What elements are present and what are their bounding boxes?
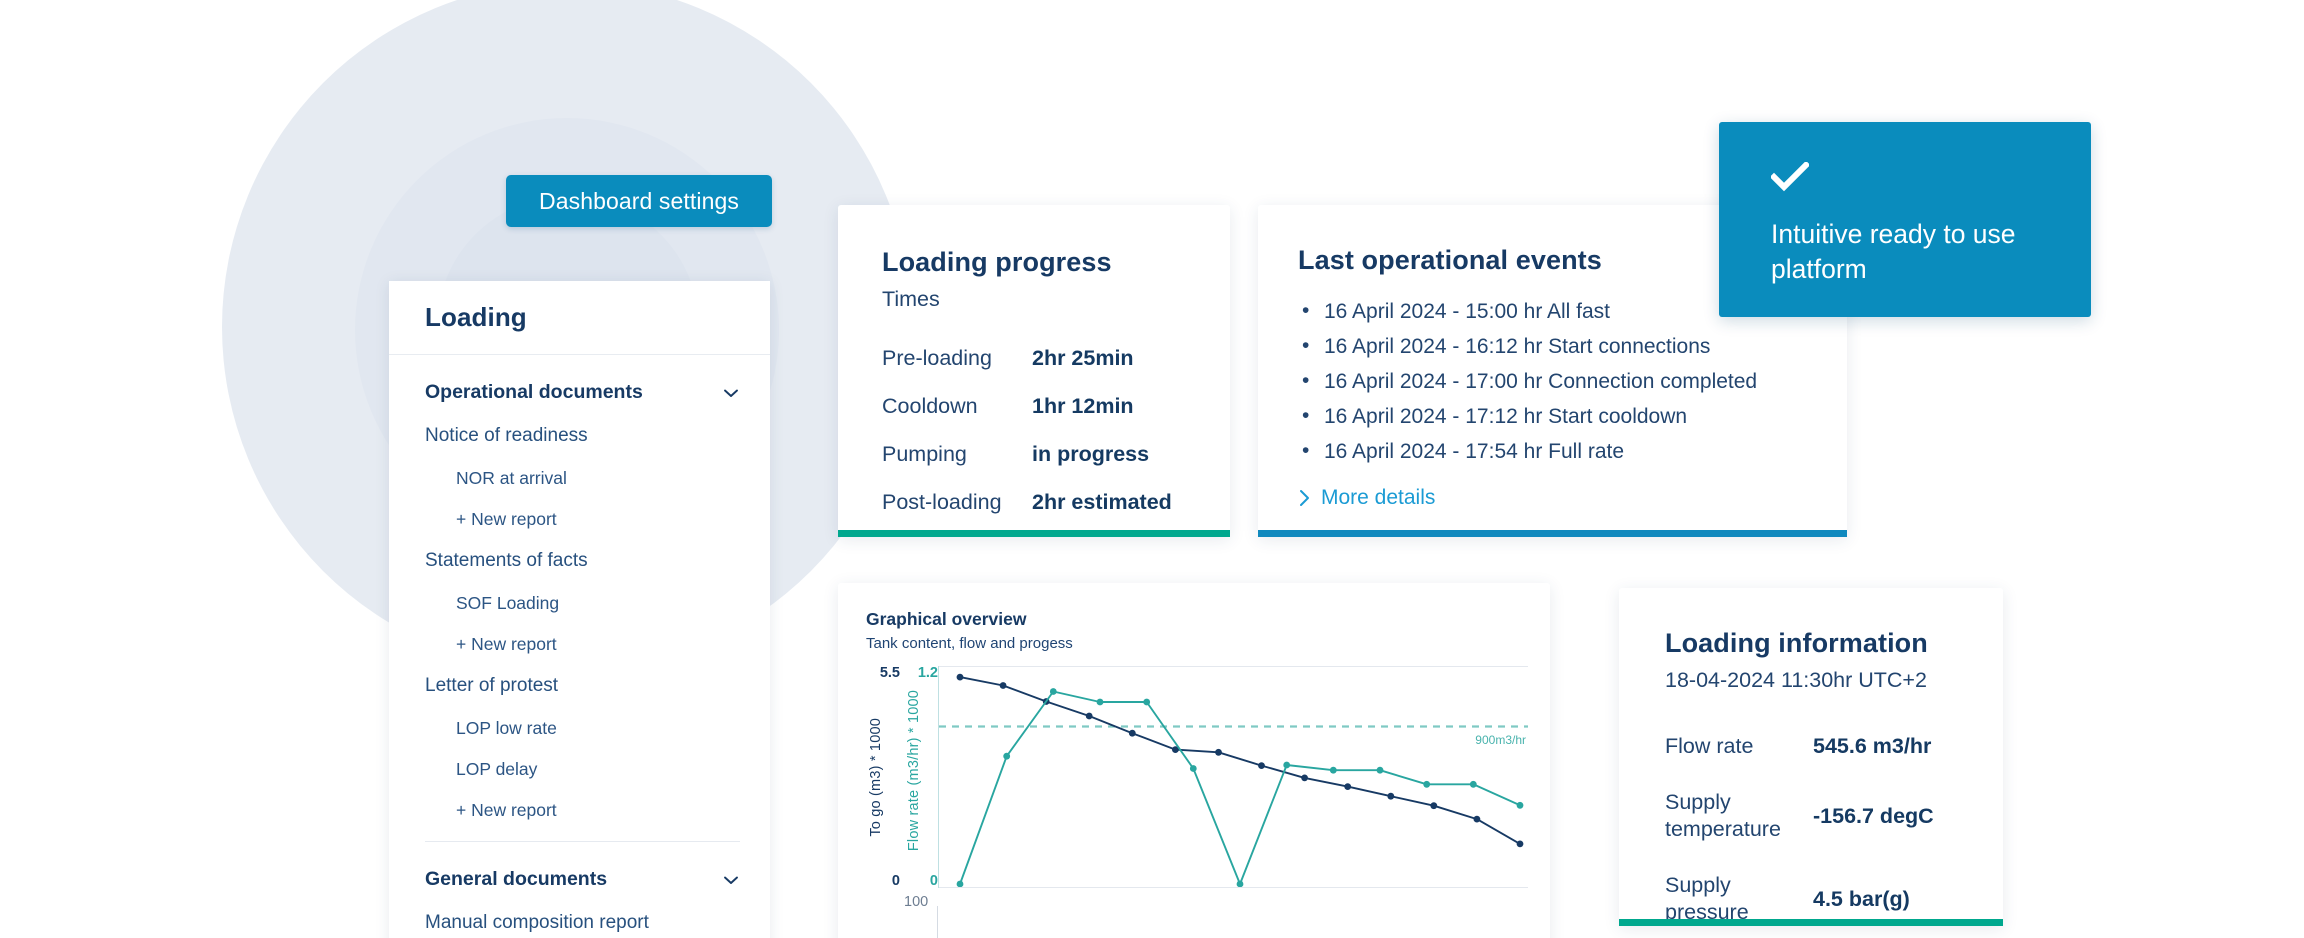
loading-progress-row: Cooldown1hr 12min <box>882 382 1230 430</box>
badge-text: Intuitive ready to use platform <box>1771 217 2047 287</box>
row-label: Cooldown <box>882 382 1032 430</box>
card-accent-bar <box>1619 919 2003 926</box>
loading-info-table: Flow rate545.6 m3/hrSupply temperature-1… <box>1665 719 1983 938</box>
loading-progress-subtitle: Times <box>882 287 1230 312</box>
series-svg <box>938 666 1528 888</box>
progress-bar-chart <box>938 928 1528 938</box>
sidebar-sub-item[interactable]: LOP low rate <box>425 718 740 739</box>
series-point <box>1283 762 1290 769</box>
loading-info-title: Loading information <box>1665 628 2003 659</box>
sidebar-sub-item[interactable]: LOP delay <box>425 759 740 780</box>
row-value: -156.7 degC <box>1813 775 1983 858</box>
series-point <box>1050 688 1057 695</box>
chart-plot-region: 5.5 0 To go (m3) * 1000 1.2 0 Flow rate … <box>866 666 1528 938</box>
sidebar-group-operational-documents[interactable]: Operational documents <box>425 381 740 404</box>
event-list-item: 16 April 2024 - 17:54 hr Full rate <box>1298 440 1847 464</box>
chart-title: Graphical overview <box>866 609 1550 630</box>
series-point <box>1190 765 1197 772</box>
sidebar-nav: Operational documentsNotice of readiness… <box>389 355 770 938</box>
plot-top-rule <box>938 666 1528 667</box>
row-label: Supply temperature <box>1665 775 1813 858</box>
sidebar-new-report-link[interactable]: + New report <box>425 509 740 530</box>
event-list-item: 16 April 2024 - 17:00 hr Connection comp… <box>1298 370 1847 394</box>
series-point <box>1387 793 1394 800</box>
sidebar-divider <box>425 841 740 842</box>
sidebar-sub-item[interactable]: SOF Loading <box>425 593 740 614</box>
series-point <box>1086 713 1093 720</box>
bar-pair <box>1017 928 1053 938</box>
series-line <box>960 692 1520 885</box>
dashboard-settings-button[interactable]: Dashboard settings <box>506 175 772 227</box>
series-point <box>1215 749 1222 756</box>
row-value: 2hr estimated <box>1032 478 1230 526</box>
loading-info-row: Flow rate545.6 m3/hr <box>1665 719 1983 775</box>
card-accent-bar <box>838 530 1230 537</box>
chevron-right-icon <box>1298 489 1311 507</box>
series-point <box>1517 802 1524 809</box>
sidebar-new-report-link[interactable]: + New report <box>425 800 740 821</box>
series-point <box>1301 775 1308 782</box>
loading-progress-title: Loading progress <box>882 247 1230 278</box>
check-icon <box>1771 162 1809 192</box>
loading-progress-row: Post-loading2hr estimated <box>882 478 1230 526</box>
row-value: 545.6 m3/hr <box>1813 719 1983 775</box>
series-point <box>1258 762 1265 769</box>
axis-to-go-min: 0 <box>892 874 900 889</box>
bar-pair <box>1195 928 1231 938</box>
bar-pair <box>1372 928 1408 938</box>
axis-flow-rate-label: Flow rate (m3/hr) * 1000 <box>906 690 922 851</box>
series-point <box>1344 783 1351 790</box>
row-value: 1hr 12min <box>1032 382 1230 430</box>
bar-pair <box>1159 928 1195 938</box>
axis-flow-rate-min: 0 <box>930 874 938 889</box>
series-point <box>1517 841 1524 848</box>
chevron-down-icon[interactable] <box>722 384 740 402</box>
bar-pair <box>1479 928 1515 938</box>
events-list: 16 April 2024 - 15:00 hr All fast16 Apri… <box>1298 300 1847 464</box>
loading-progress-row: Pumpingin progress <box>882 430 1230 478</box>
sidebar-doc-item[interactable]: Notice of readiness <box>425 425 740 447</box>
line-plot: 900m3/hr <box>938 666 1528 888</box>
axis-to-go-max: 5.5 <box>880 666 900 681</box>
chart-subtitle: Tank content, flow and progess <box>866 635 1550 652</box>
page-title: Loading <box>425 302 527 333</box>
loading-information-card: Loading information 18-04-2024 11:30hr U… <box>1619 588 2003 926</box>
plot-bottom-rule <box>938 887 1528 888</box>
axis-to-go-label: To go (m3) * 1000 <box>868 718 884 837</box>
sidebar-doc-item[interactable]: Letter of protest <box>425 675 740 697</box>
sidebar-new-report-link[interactable]: + New report <box>425 634 740 655</box>
sidebar-doc-item[interactable]: Statements of facts <box>425 550 740 572</box>
series-point <box>1330 767 1337 774</box>
series-point <box>1377 767 1384 774</box>
row-value: 2hr 25min <box>1032 334 1230 382</box>
dashboard-screen: Dashboard settings Loading Operational d… <box>0 0 2304 938</box>
series-point <box>1097 699 1104 706</box>
row-label: Pumping <box>882 430 1032 478</box>
series-point <box>1000 682 1007 689</box>
bar-pair <box>1301 928 1337 938</box>
card-accent-bar <box>1258 530 1847 537</box>
bar-pair <box>1337 928 1373 938</box>
row-value: in progress <box>1032 430 1230 478</box>
sidebar-doc-item[interactable]: Manual composition report <box>425 912 740 934</box>
series-point <box>1470 781 1477 788</box>
chevron-down-icon[interactable] <box>722 871 740 889</box>
bar-pair <box>982 928 1018 938</box>
threshold-label: 900m3/hr <box>1475 733 1526 747</box>
bar-pair <box>1408 928 1444 938</box>
more-details-link[interactable]: More details <box>1298 486 1847 510</box>
sidebar-header: Loading <box>389 281 770 355</box>
series-point <box>1474 816 1481 823</box>
graphical-overview-card: Graphical overview Tank content, flow an… <box>838 583 1550 938</box>
row-label: Flow rate <box>1665 719 1813 775</box>
loading-info-timestamp: 18-04-2024 11:30hr UTC+2 <box>1665 668 2003 693</box>
plot-axis-line <box>938 666 939 888</box>
bar-pair <box>1266 928 1302 938</box>
event-list-item: 16 April 2024 - 16:12 hr Start connectio… <box>1298 335 1847 359</box>
bar-pair <box>1443 928 1479 938</box>
more-details-label: More details <box>1321 486 1435 510</box>
series-point <box>1143 699 1150 706</box>
loading-info-row: Supply temperature-156.7 degC <box>1665 775 1983 858</box>
row-label: Pre-loading <box>882 334 1032 382</box>
intuitive-platform-badge: Intuitive ready to use platform <box>1719 122 2091 317</box>
axis-progress-max: 100 <box>904 894 928 910</box>
series-point <box>1430 802 1437 809</box>
event-list-item: 16 April 2024 - 17:12 hr Start cooldown <box>1298 405 1847 429</box>
loading-sidebar: Loading Operational documentsNotice of r… <box>389 281 770 938</box>
sidebar-sub-item[interactable]: NOR at arrival <box>425 468 740 489</box>
bar-pair <box>1053 928 1089 938</box>
loading-progress-table: Pre-loading2hr 25minCooldown1hr 12minPum… <box>882 334 1230 526</box>
loading-progress-row: Pre-loading2hr 25min <box>882 334 1230 382</box>
sidebar-group-label: General documents <box>425 868 607 891</box>
loading-progress-card: Loading progress Times Pre-loading2hr 25… <box>838 205 1230 537</box>
series-point <box>1129 730 1136 737</box>
series-point <box>1003 753 1010 760</box>
sidebar-group-general-documents[interactable]: General documents <box>425 868 740 891</box>
bar-pair <box>1088 928 1124 938</box>
bar-pair <box>946 928 982 938</box>
bar-pair <box>1124 928 1160 938</box>
series-point <box>957 674 964 681</box>
row-label: Post-loading <box>882 478 1032 526</box>
sidebar-group-label: Operational documents <box>425 381 643 404</box>
bar-pair <box>1230 928 1266 938</box>
series-point <box>1423 781 1430 788</box>
axis-flow-rate-max: 1.2 <box>918 666 938 681</box>
